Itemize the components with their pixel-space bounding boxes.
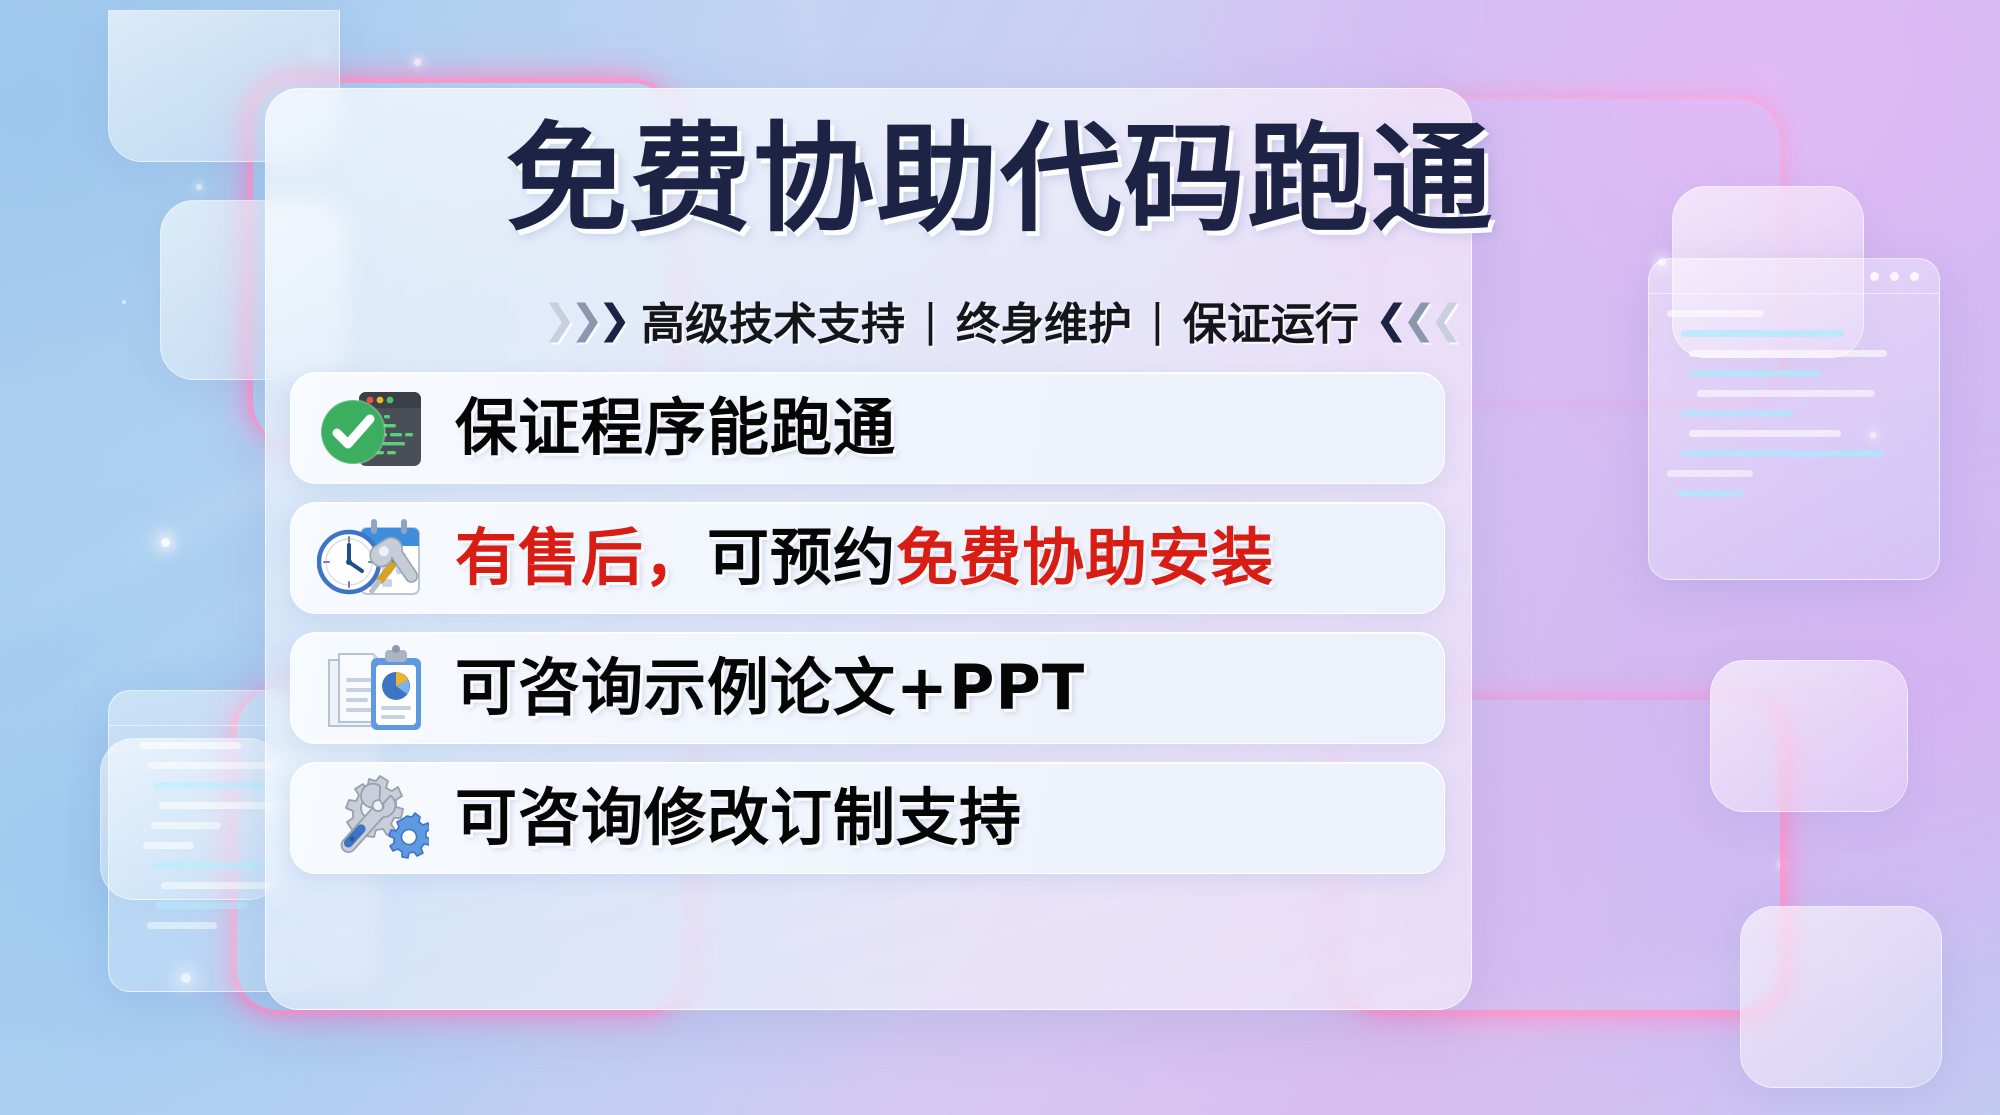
glass-square [100,738,282,900]
promo-banner: 免费协助代码跑通 ❯❯❯ 高级技术支持 | 终身维护 | 保证运行 ❮❮❮ [0,0,2000,1115]
feature-row-1[interactable]: 保证程序能跑通 [290,372,1445,484]
sparkle-dot [1658,258,1666,266]
subtitle-part-2: 终身维护 [956,288,1132,352]
feature-row-3[interactable]: 可咨询示例论文+PPT [290,632,1445,744]
subtitle-separator: | [923,295,938,346]
glass-square [1710,660,1908,812]
wrench-gear-icon [317,774,429,862]
sparkle-dot [1870,432,1876,438]
feature-row-4[interactable]: 可咨询修改订制支持 [290,762,1445,874]
page-title: 免费协助代码跑通 [0,120,2000,238]
sparkle-dot [318,49,323,54]
feature-list: 保证程序能跑通 [290,372,1445,874]
chevron-left-icon: ❮❮❮ [1375,297,1458,343]
feature-text-4: 可咨询修改订制支持 [455,787,1022,849]
feature-text-3: 可咨询示例论文+PPT [455,657,1085,719]
subtitle-separator: | [1150,295,1165,346]
chevron-right-icon: ❯❯❯ [543,297,626,343]
subtitle-part-3: 保证运行 [1183,288,1359,352]
feature-row-2[interactable]: 有售后，可预约免费协助安装 [290,502,1445,614]
checkmark-terminal-icon [317,384,429,472]
subtitle-part-1: 高级技术支持 [641,288,905,352]
subtitle-bar: ❯❯❯ 高级技术支持 | 终身维护 | 保证运行 ❮❮❮ [0,288,2000,352]
clock-calendar-wrench-icon [317,514,429,602]
sparkle-dot [1779,862,1784,867]
sparkle-dot [181,973,191,983]
feature-text-1: 保证程序能跑通 [455,397,896,459]
documents-clipboard-chart-icon [317,644,429,732]
sparkle-dot [161,538,170,547]
glass-square [1740,906,1942,1088]
sparkle-dot [414,59,421,66]
feature-text-2: 有售后，可预约免费协助安装 [455,527,1274,589]
